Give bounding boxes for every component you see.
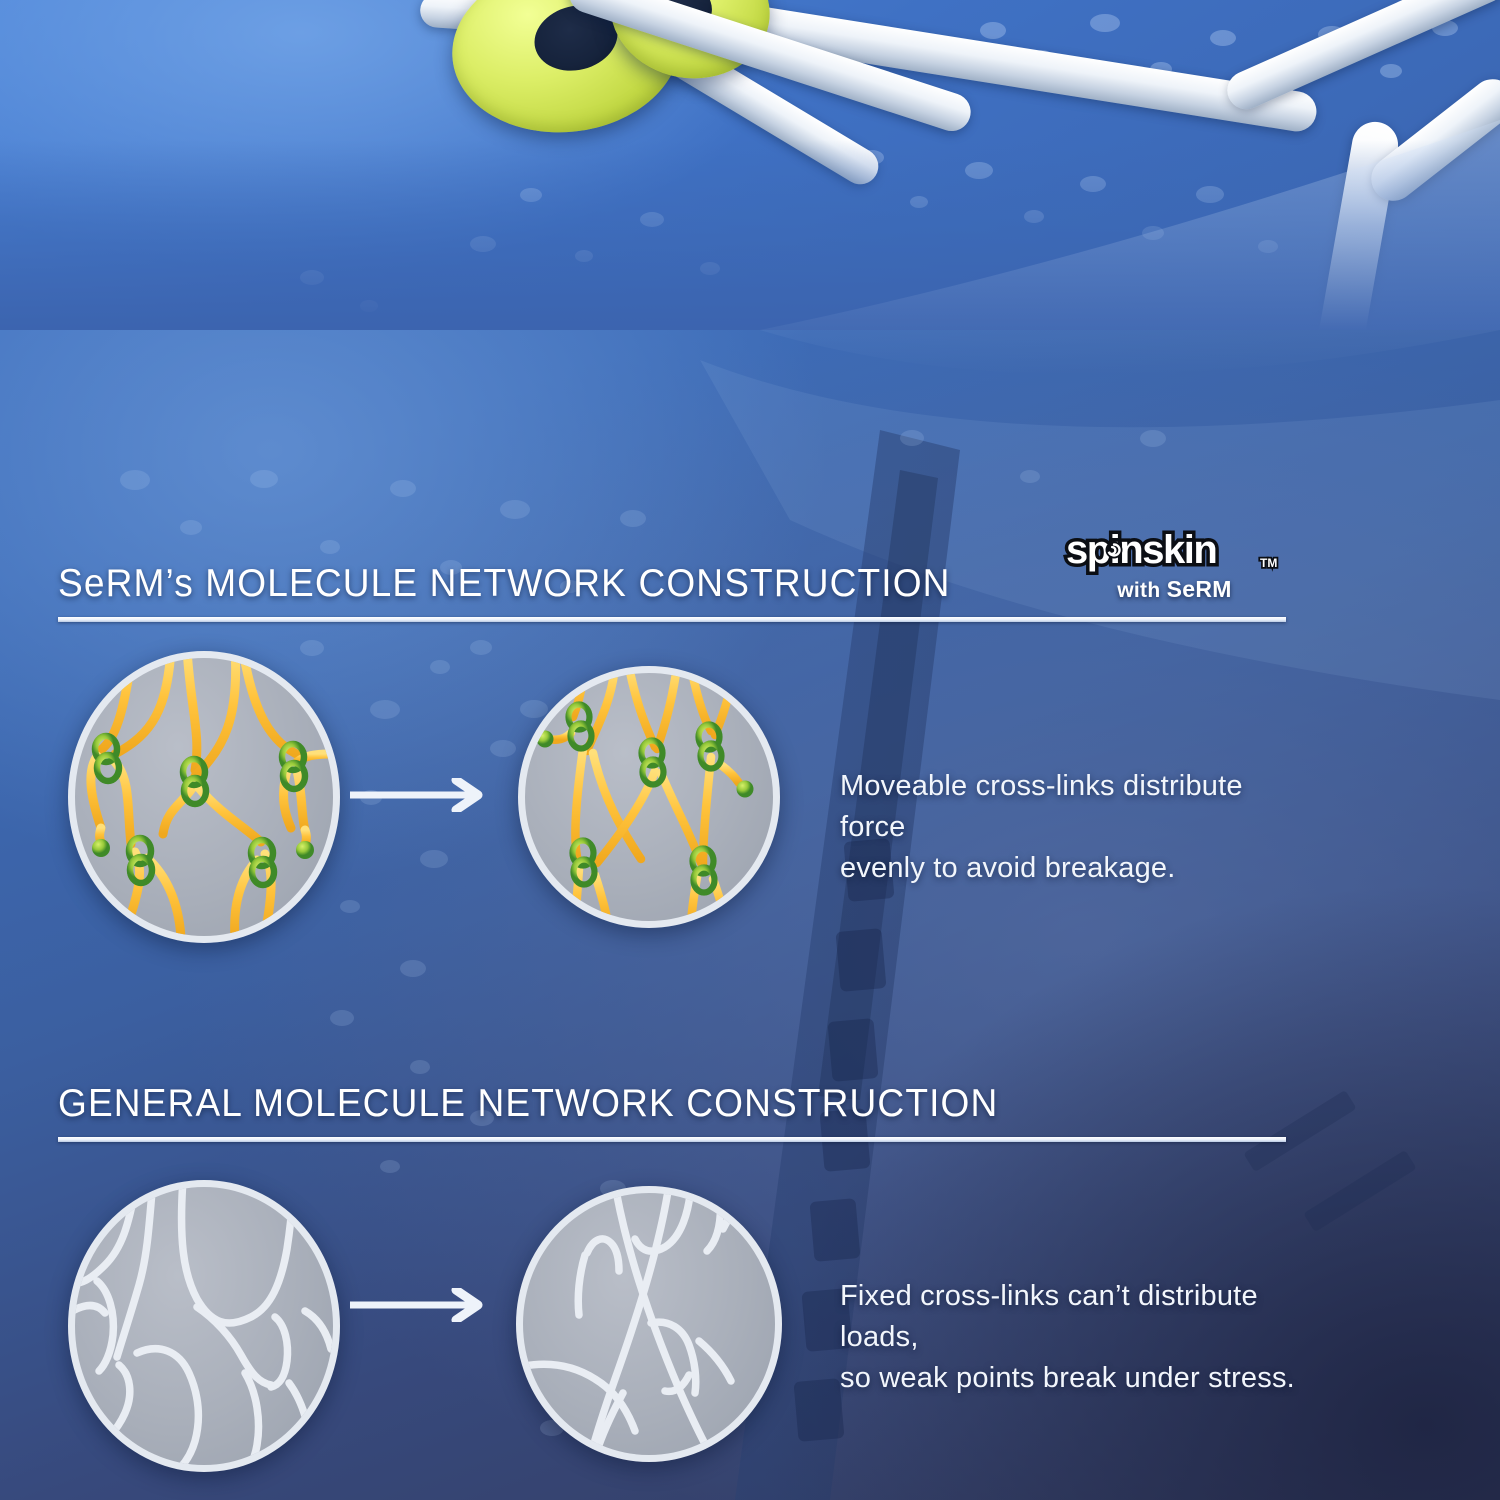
- general-caption-line-1: Fixed cross-links can’t distribute loads…: [840, 1276, 1310, 1358]
- logo-tagline-prefix: with: [1117, 579, 1166, 602]
- general-caption-line-2: so weak points break under stress.: [840, 1358, 1310, 1399]
- general-caption: Fixed cross-links can’t distribute loads…: [840, 1276, 1310, 1400]
- serm-caption-line-2: evenly to avoid breakage.: [840, 848, 1300, 889]
- chain-end-node: [92, 839, 110, 857]
- general-relaxed-network-svg: [75, 1187, 333, 1465]
- hero-photo: [0, 0, 1500, 330]
- wordmark-text: spinskin: [1066, 528, 1216, 572]
- serm-relaxed-network-svg: [75, 658, 333, 936]
- brand-logo: spinskin TM with SeRM: [1062, 527, 1287, 603]
- logo-tagline: with SeRM: [1062, 576, 1287, 603]
- photo-fade: [0, 140, 1500, 330]
- trademark-text: TM: [1260, 556, 1277, 570]
- serm-transition-arrow: [350, 778, 500, 812]
- chain-end-node: [537, 731, 554, 748]
- general-transition-arrow: [350, 1288, 500, 1322]
- spinskin-wordmark: spinskin TM: [1062, 527, 1287, 575]
- serm-caption: Moveable cross-links distribute force ev…: [840, 766, 1300, 890]
- serm-stretched-network-disc: [518, 666, 780, 928]
- serm-relaxed-network-disc: [68, 651, 340, 943]
- section-serm-heading: SeRM’s MOLECULE NETWORK CONSTRUCTION: [58, 562, 951, 606]
- general-stretched-network-svg: [523, 1193, 775, 1455]
- chain-end-node: [296, 841, 314, 859]
- infographic-page: spinskin TM with SeRM SeRM’s MOLECULE NE…: [0, 0, 1500, 1500]
- chain-end-node: [737, 781, 754, 798]
- general-relaxed-network-disc: [68, 1180, 340, 1472]
- section-general-heading: GENERAL MOLECULE NETWORK CONSTRUCTION: [58, 1082, 998, 1126]
- section-general-rule: [58, 1137, 1286, 1142]
- serm-caption-line-1: Moveable cross-links distribute force: [840, 766, 1300, 848]
- general-stretched-network-disc: [516, 1186, 782, 1462]
- logo-tagline-brand: SeRM: [1167, 576, 1232, 602]
- section-serm-rule: [58, 617, 1286, 622]
- serm-stretched-network-svg: [525, 673, 773, 921]
